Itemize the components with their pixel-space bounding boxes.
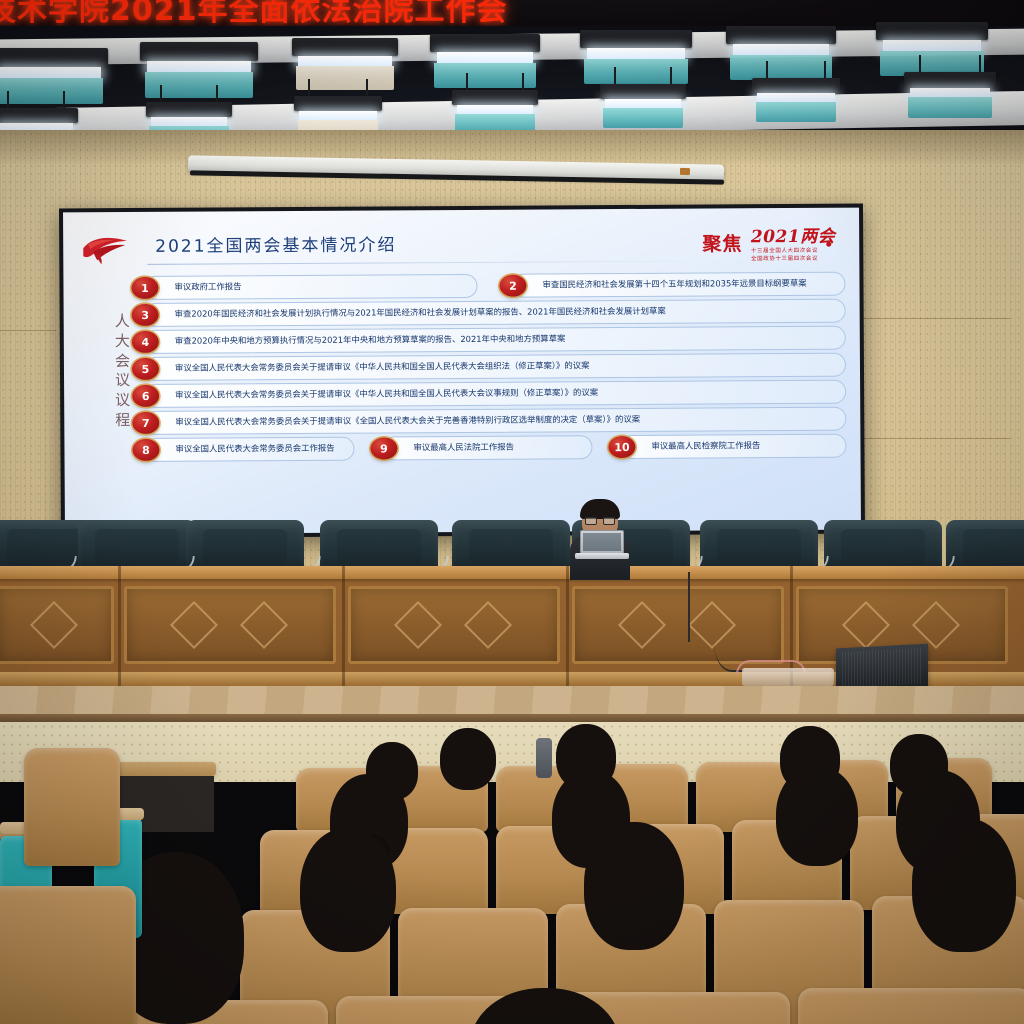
desk-panel [0,586,114,664]
stage-light [752,78,840,122]
agenda-text: 审议全国人民代表大会常务委员会关于提请审议《全国人民代表大会关于完善香港特别行政… [175,414,640,428]
desk-panel-diamond [464,601,512,649]
desk-panel-diamond [30,601,78,649]
projection-screen: 2021全国两会基本情况介绍 聚焦 2021两会 十三届全国人大四次会议 全国政… [59,204,865,539]
agenda-badge: 9 [370,437,397,459]
desk-panel-diamond [394,601,442,649]
brand-main-text: 聚焦 [702,230,742,257]
desk-panel [348,586,560,664]
agenda-badge: 1 [131,277,158,299]
brand-dot [826,242,831,247]
audience-seat [24,748,120,866]
agenda-text: 审议最高人民法院工作报告 [413,442,514,454]
agenda-badge: 6 [132,385,159,407]
desk-panel-diamond [240,601,288,649]
laptop-base [575,553,629,559]
agenda-pill: 审议最高人民法院工作报告 [382,435,592,460]
agenda-text: 审议全国人民代表大会常务委员会工作报告 [175,443,334,456]
agenda-pill: 审议全国人民代表大会常务委员会工作报告 [144,437,354,462]
agenda-item-2: 2 审查国民经济和社会发展第十四个五年规划和2035年远景目标纲要草案 [511,272,845,298]
agenda-badge: 3 [132,304,159,326]
desk-panel [124,586,336,664]
water-bottle [536,738,552,778]
audience-seat [0,886,136,1024]
brand-subtitle-2: 全国政协十三届四次会议 [751,255,835,264]
agenda-pill: 审查国民经济和社会发展第十四个五年规划和2035年远景目标纲要草案 [511,272,845,298]
agenda-item-7: 7 审议全国人民代表大会常务委员会关于提请审议《全国人民代表大会关于完善香港特别… [144,407,846,435]
presenter-laptop [578,530,626,560]
audience-head [912,818,1016,952]
agenda-badge: 2 [499,275,526,297]
agenda-item-9: 9 审议最高人民法院工作报告 [382,435,592,460]
slide-surface: 2021全国两会基本情况介绍 聚焦 2021两会 十三届全国人大四次会议 全国政… [63,208,861,535]
stage-desk-top [0,566,1024,579]
agenda-item-1: 1 审议政府工作报告 [143,274,477,300]
agenda-badge: 5 [132,358,159,380]
stage-light [876,22,988,76]
stage-light [726,26,836,80]
desk-panel [572,586,784,664]
agenda-item-8: 8 审议全国人民代表大会常务委员会工作报告 [144,437,354,462]
agenda-pill: 审议全国人民代表大会常务委员会关于提请审议《全国人民代表大会关于完善香港特别行政… [144,407,846,435]
agenda-badge: 8 [132,439,159,461]
audience-seat [798,988,1024,1024]
agenda-text: 审查2020年中央和地方预算执行情况与2021年中央和地方预算草案的报告、202… [175,334,566,348]
presenter-glasses [585,517,615,525]
title-divider [147,260,707,264]
agenda-pill: 审查2020年中央和地方预算执行情况与2021年中央和地方预算草案的报告、202… [144,326,846,354]
roller-brand-badge [680,168,690,175]
agenda-badge: 7 [132,412,159,434]
brand-year-text: 2021两会 [751,222,835,248]
agenda-text: 审议全国人民代表大会常务委员会关于提请审议《中华人民共和国全国人民代表大会组织法… [175,360,590,374]
stage-light [452,90,538,134]
agenda-pill: 审议全国人民代表大会常务委员会关于提请审议《中华人民共和国全国人民代表大会组织法… [144,353,846,381]
agenda-item-6: 6 审议全国人民代表大会常务委员会关于提请审议《中华人民共和国全国人民代表大会议… [144,380,846,408]
agenda-item-3: 3 审查2020年国民经济和社会发展计划执行情况与2021年国民经济和社会发展计… [144,299,846,327]
stage-light [140,42,258,98]
brand-stack: 2021两会 十三届全国人大四次会议 全国政协十三届四次会议 [751,222,836,264]
desk-panel-diamond [170,601,218,649]
agenda-item-10: 10 审议最高人民检察院工作报告 [620,434,846,459]
wall-seam [860,438,1010,439]
agenda-pill: 审议最高人民检察院工作报告 [620,434,846,459]
stage-light [600,84,686,128]
desk-seam [566,566,569,686]
stage-equipment-tray [742,668,834,686]
audience-head [440,728,496,790]
agenda-pill: 审议全国人民代表大会常务委员会关于提请审议《中华人民共和国全国人民代表大会议事规… [144,380,846,408]
desk-panel-diamond [912,601,960,649]
slide-title: 2021全国两会基本情况介绍 [155,230,396,256]
audience-head [300,828,396,952]
agenda-row: 8 审议全国人民代表大会常务委员会工作报告 9 审议最高人民法院工作报告 10 [144,434,846,462]
agenda-text: 审查国民经济和社会发展第十四个五年规划和2035年远景目标纲要草案 [542,278,806,291]
red-ribbon-logo [79,232,135,266]
agenda-text: 审议全国人民代表大会常务委员会关于提请审议《中华人民共和国全国人民代表大会议事规… [175,387,598,401]
agenda-row: 1 审议政府工作报告 2 审查国民经济和社会发展第十四个五年规划和2035年远景… [143,272,845,300]
agenda-text: 审查2020年国民经济和社会发展计划执行情况与2021年国民经济和社会发展计划草… [175,306,666,321]
agenda-pill: 审议政府工作报告 [143,274,477,300]
agenda-text: 审议最高人民检察院工作报告 [651,440,760,452]
stage-light [580,30,692,84]
agenda-text: 审议政府工作报告 [174,282,241,294]
wall-seam [860,318,1010,319]
wall-shadow-band [0,130,1024,164]
wall-seam [0,330,56,331]
led-banner: 技术学院2021年全面依法治院工作会 [0,0,1024,26]
agenda-pill: 审查2020年国民经济和社会发展计划执行情况与2021年国民经济和社会发展计划草… [144,299,846,327]
presenter-hair [580,499,620,519]
agenda-list: 1 审议政府工作报告 2 审查国民经济和社会发展第十四个五年规划和2035年远景… [143,272,846,465]
audience-head [776,766,858,866]
audience-head [584,822,684,950]
agenda-item-4: 4 审查2020年中央和地方预算执行情况与2021年中央和地方预算草案的报告、2… [144,326,846,354]
laptop-lid [580,530,624,554]
desk-panel-diamond [842,601,890,649]
desk-seam [118,566,121,686]
auditorium-photo-scene: 技术学院2021年全面依法治院工作会 [0,0,1024,1024]
desk-seam [342,566,345,686]
agenda-badge: 10 [608,436,635,458]
laptop-screen [583,533,621,551]
desk-panel-diamond [618,601,666,649]
agenda-badge: 4 [132,331,159,353]
stage-light [0,48,108,104]
agenda-item-5: 5 审议全国人民代表大会常务委员会关于提请审议《中华人民共和国全国人民代表大会组… [144,353,846,381]
led-banner-text: 技术学院2021年全面依法治院工作会 [0,0,508,26]
slide-brand-mark: 聚焦 2021两会 十三届全国人大四次会议 全国政协十三届四次会议 [702,222,835,264]
stage-light [904,72,996,118]
